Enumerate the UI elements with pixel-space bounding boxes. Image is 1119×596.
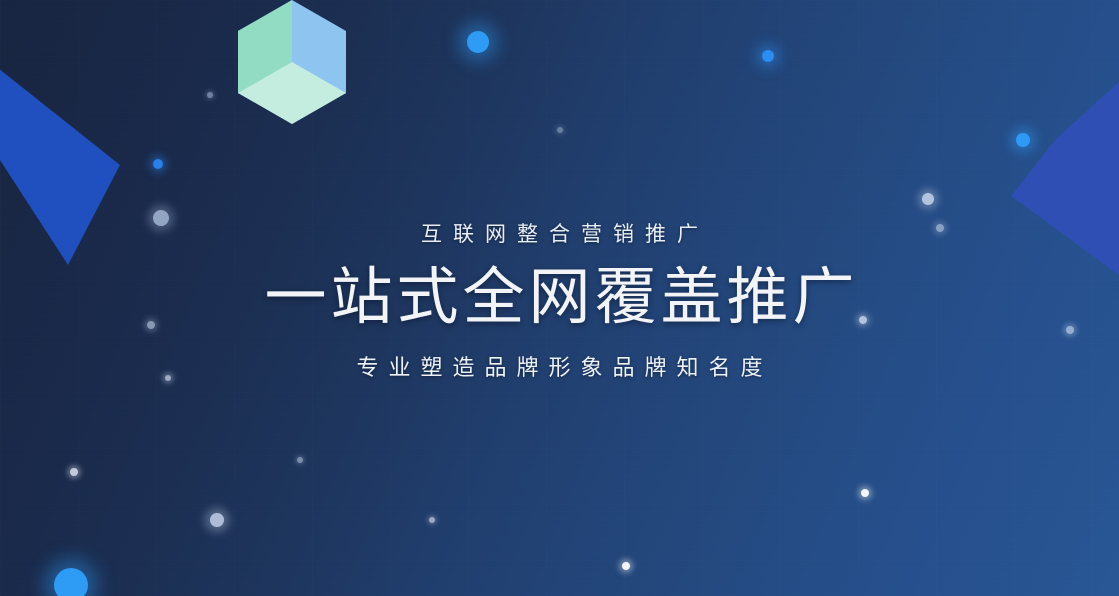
particle-10-dot [70,468,78,476]
banner-headline: 一站式全网覆盖推广 [0,263,1119,332]
banner-text-block: 互联网整合营销推广 一站式全网覆盖推广 专业塑造品牌形象品牌知名度 [0,222,1119,381]
banner-eyebrow: 互联网整合营销推广 [0,222,1119,247]
particle-17-dot [297,457,303,463]
hero-banner: 互联网整合营销推广 一站式全网覆盖推广 专业塑造品牌形象品牌知名度 [0,0,1119,596]
particle-11-dot [210,513,224,527]
particle-6-dot [922,193,934,205]
particle-1-dot [467,31,489,53]
particle-20-dot [207,92,213,98]
particle-12-dot [54,568,88,596]
particle-14-dot [861,489,869,497]
cube-logo-icon [233,0,351,132]
particle-13-dot [622,562,630,570]
particle-4-dot [153,159,163,169]
particle-19-dot [557,127,563,133]
banner-subline: 专业塑造品牌形象品牌知名度 [0,355,1119,381]
particle-2-dot [762,50,774,62]
particle-16-dot [429,517,435,523]
